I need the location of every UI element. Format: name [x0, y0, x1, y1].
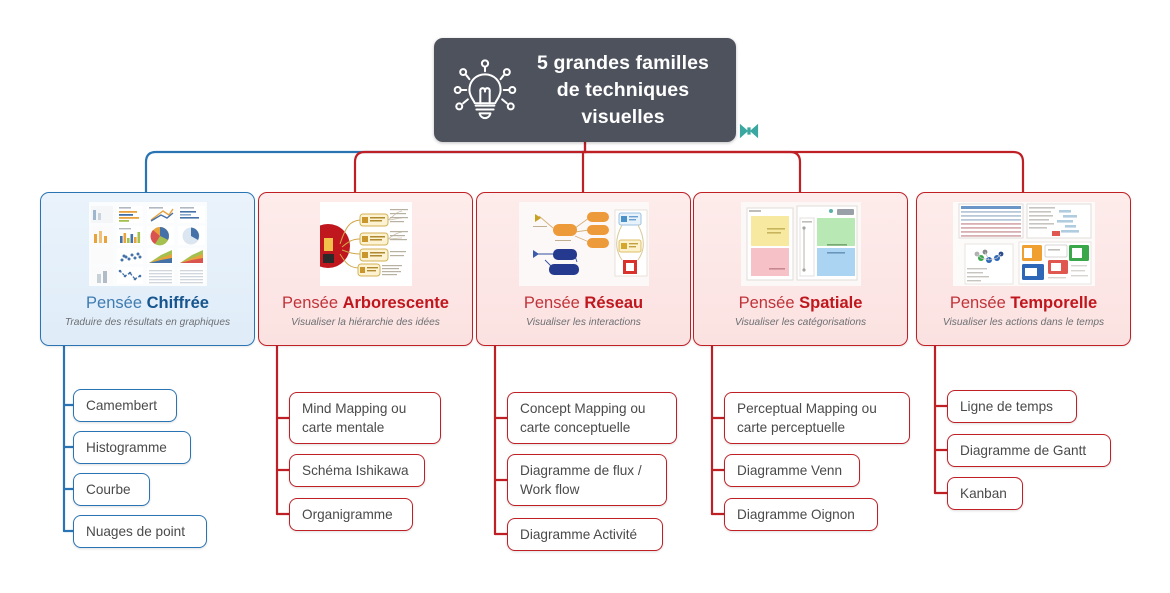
- leaf-label: Ligne de temps: [960, 397, 1053, 416]
- branch-title-temporelle: Pensée Temporelle: [917, 294, 1130, 313]
- wire-root-to-spatiale: [585, 152, 800, 192]
- branch-title-reseau: Pensée Réseau: [477, 294, 690, 313]
- branch-caption-temporelle: Pensée Temporelle Visualiser les actions…: [917, 294, 1130, 329]
- leaf-label: Diagramme Activité: [520, 525, 637, 544]
- branch-title-spatiale: Pensée Spatiale: [694, 294, 907, 313]
- branch-card-reseau[interactable]: Pensée Réseau Visualiser les interaction…: [476, 192, 691, 346]
- network-nodes-thumbnail: [477, 201, 690, 287]
- leaf-diagramme-de-gantt[interactable]: Diagramme de Gantt: [947, 434, 1111, 467]
- leaf-courbe[interactable]: Courbe: [73, 473, 150, 506]
- leaf-label: Diagramme de flux / Work flow: [520, 461, 654, 499]
- branch-subtitle-chiffree: Traduire des résultats en graphiques: [41, 316, 254, 329]
- leaf-perceptual-mapping[interactable]: Perceptual Mapping ou carte perceptuelle: [724, 392, 910, 444]
- leaf-label: Schéma Ishikawa: [302, 461, 409, 480]
- branch-card-spatiale[interactable]: Pensée Spatiale Visualiser les catégoris…: [693, 192, 908, 346]
- leaf-label: Kanban: [960, 484, 1007, 503]
- branch-card-temporelle[interactable]: Pensée Temporelle Visualiser les actions…: [916, 192, 1131, 346]
- root-title-line-1: 5 grandes familles: [524, 50, 722, 77]
- mindmap-canvas: 5 grandes familles de techniques visuell…: [0, 0, 1170, 593]
- leaf-label: Diagramme Oignon: [737, 505, 855, 524]
- wire-root-to-arborescente: [355, 142, 585, 192]
- leaf-label: Organigramme: [302, 505, 393, 524]
- leaf-organigramme[interactable]: Organigramme: [289, 498, 413, 531]
- leaf-diagramme-activite[interactable]: Diagramme Activité: [507, 518, 663, 551]
- branch-subtitle-spatiale: Visualiser les catégorisations: [694, 316, 907, 329]
- branch-caption-chiffree: Pensée Chiffrée Traduire des résultats e…: [41, 294, 254, 329]
- root-title: 5 grandes familles de techniques visuell…: [524, 50, 736, 131]
- charts-grid-thumbnail: [41, 201, 254, 287]
- leaf-camembert[interactable]: Camembert: [73, 389, 177, 422]
- branch-subtitle-temporelle: Visualiser les actions dans le temps: [917, 316, 1130, 329]
- leaf-label: Diagramme Venn: [737, 461, 842, 480]
- branch-card-chiffree[interactable]: Pensée Chiffrée Traduire des résultats e…: [40, 192, 255, 346]
- leaf-mind-mapping[interactable]: Mind Mapping ou carte mentale: [289, 392, 441, 444]
- leaf-label: Concept Mapping ou carte conceptuelle: [520, 399, 664, 437]
- leaf-label: Courbe: [86, 480, 131, 499]
- leaf-label: Diagramme de Gantt: [960, 441, 1086, 460]
- branch-card-arborescente[interactable]: Pensée Arborescente Visualiser la hiérar…: [258, 192, 473, 346]
- branch-title-chiffree: Pensée Chiffrée: [41, 294, 254, 313]
- branch-subtitle-arborescente: Visualiser la hiérarchie des idées: [259, 316, 472, 329]
- leaf-label: Mind Mapping ou carte mentale: [302, 399, 428, 437]
- branch-caption-reseau: Pensée Réseau Visualiser les interaction…: [477, 294, 690, 329]
- wire-root-to-chiffree: [146, 142, 585, 192]
- leaf-diagramme-de-flux[interactable]: Diagramme de flux / Work flow: [507, 454, 667, 506]
- leaf-label: Perceptual Mapping ou carte perceptuelle: [737, 399, 897, 437]
- leaf-label: Nuages de point: [86, 522, 185, 541]
- leaf-diagramme-venn[interactable]: Diagramme Venn: [724, 454, 860, 487]
- gantt-kanban-thumbnail: [917, 201, 1130, 287]
- leaf-label: Histogramme: [86, 438, 167, 457]
- wire-root-to-temporelle: [585, 152, 1023, 192]
- leaf-schema-ishikawa[interactable]: Schéma Ishikawa: [289, 454, 425, 487]
- root-title-line-3: visuelles: [524, 104, 722, 131]
- leaf-label: Camembert: [86, 396, 157, 415]
- branch-title-arborescente: Pensée Arborescente: [259, 294, 472, 313]
- branch-caption-spatiale: Pensée Spatiale Visualiser les catégoris…: [694, 294, 907, 329]
- leaf-kanban[interactable]: Kanban: [947, 477, 1023, 510]
- branch-subtitle-reseau: Visualiser les interactions: [477, 316, 690, 329]
- lightbulb-idea-icon: [446, 51, 524, 129]
- leaf-concept-mapping[interactable]: Concept Mapping ou carte conceptuelle: [507, 392, 677, 444]
- root-node[interactable]: 5 grandes familles de techniques visuell…: [434, 38, 736, 142]
- root-title-line-2: de techniques: [524, 77, 722, 104]
- xmind-logo: [738, 121, 760, 141]
- wire-root-to-reseau: [583, 152, 585, 192]
- mindmap-tree-thumbnail: [259, 201, 472, 287]
- leaf-nuages-de-point[interactable]: Nuages de point: [73, 515, 207, 548]
- leaf-histogramme[interactable]: Histogramme: [73, 431, 191, 464]
- leaf-ligne-de-temps[interactable]: Ligne de temps: [947, 390, 1077, 423]
- branch-caption-arborescente: Pensée Arborescente Visualiser la hiérar…: [259, 294, 472, 329]
- leaf-diagramme-oignon[interactable]: Diagramme Oignon: [724, 498, 878, 531]
- quadrant-boards-thumbnail: [694, 201, 907, 287]
